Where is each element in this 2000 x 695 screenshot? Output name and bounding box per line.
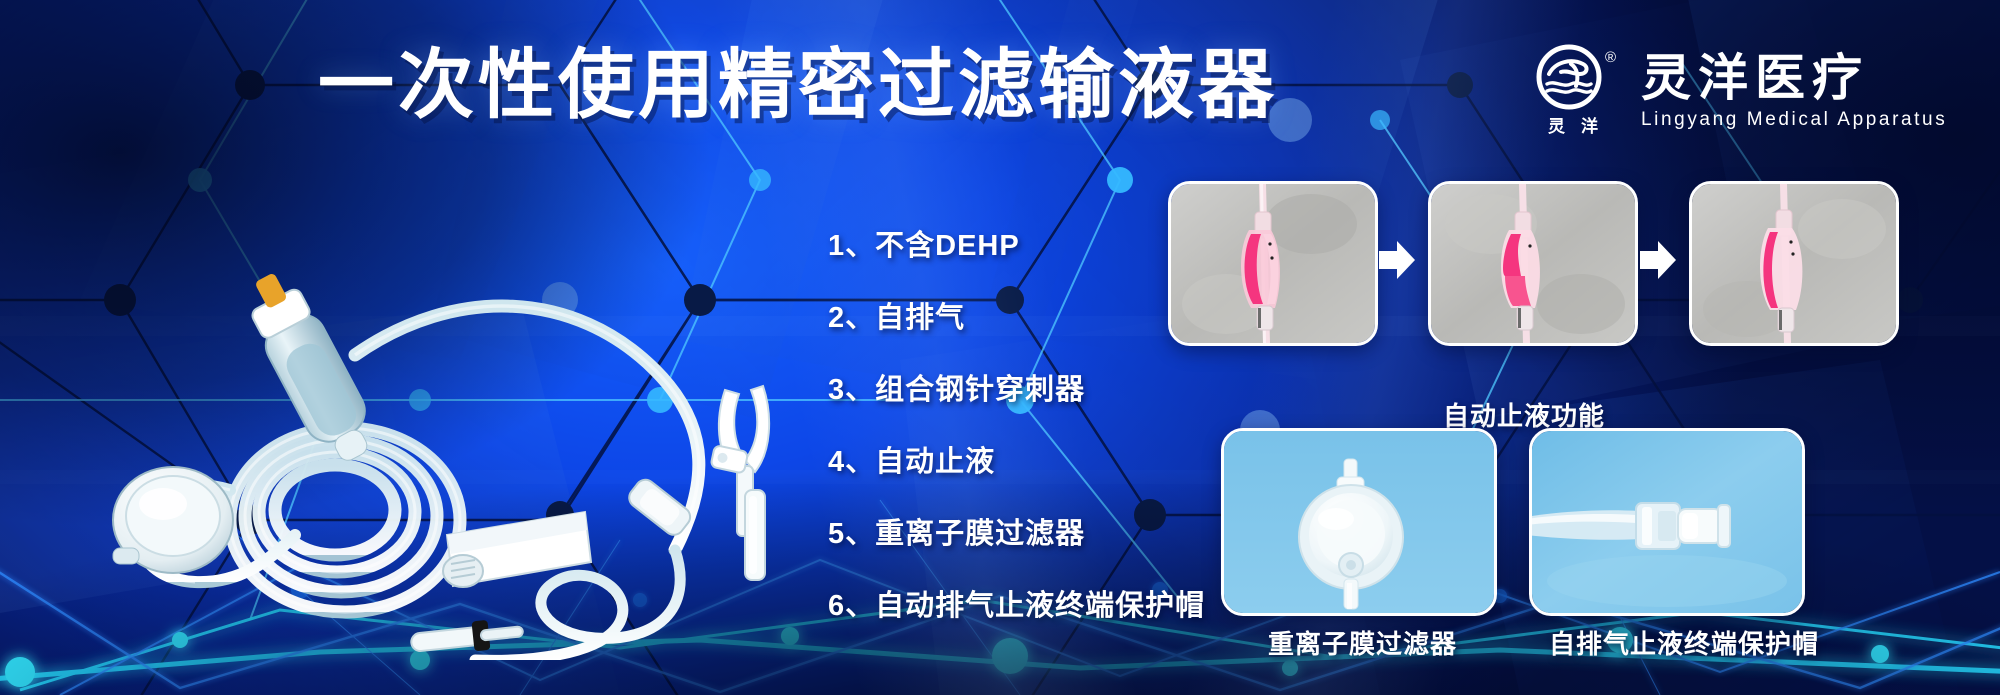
logo-wordmark: 灵洋医疗 Lingyang Medical Apparatus xyxy=(1641,51,1947,131)
sequence-photo-2 xyxy=(1428,181,1638,346)
feature-item-4: 4、自动止液 xyxy=(828,438,1205,480)
sequence-arrow-1 xyxy=(1379,239,1415,281)
product-caption-filter: 重离子膜过滤器 xyxy=(1268,624,1457,661)
feature-item-2: 2、自排气 xyxy=(828,294,1205,336)
product-caption-cap: 自排气止液终端保护帽 xyxy=(1549,624,1819,661)
sequence-photo-1 xyxy=(1168,181,1378,346)
sequence-photo-3 xyxy=(1689,181,1899,346)
hero-product-photo xyxy=(55,190,815,660)
product-photo-filter xyxy=(1221,428,1497,616)
page-title: 一次性使用精密过滤输液器 xyxy=(318,48,1278,124)
logo-name-cn: 灵洋医疗 xyxy=(1641,51,1947,105)
feature-item-1: 1、不含DEHP xyxy=(828,222,1205,264)
logo-name-en: Lingyang Medical Apparatus xyxy=(1641,109,1947,131)
logo-emblem: ® 灵洋 xyxy=(1525,44,1621,137)
logo-emblem-subtitle: 灵洋 xyxy=(1532,112,1614,137)
feature-item-3: 3、组合钢针穿刺器 xyxy=(828,366,1205,408)
brand-logo: ® 灵洋 灵洋医疗 Lingyang Medical Apparatus xyxy=(1525,44,1947,137)
product-banner: 一次性使用精密过滤输液器 ® 灵洋 灵洋医疗 Lingyang Medical … xyxy=(0,0,2000,695)
feature-item-5: 5、重离子膜过滤器 xyxy=(828,510,1205,552)
feature-item-6: 6、自动排气止液终端保护帽 xyxy=(828,582,1205,624)
product-photo-cap xyxy=(1529,428,1805,616)
sequence-arrow-2 xyxy=(1640,239,1676,281)
svg-text:®: ® xyxy=(1605,49,1616,66)
wave-circle-icon: ® xyxy=(1527,44,1619,110)
feature-list: 1、不含DEHP 2、自排气 3、组合钢针穿刺器 4、自动止液 5、重离子膜过滤… xyxy=(828,222,1205,624)
